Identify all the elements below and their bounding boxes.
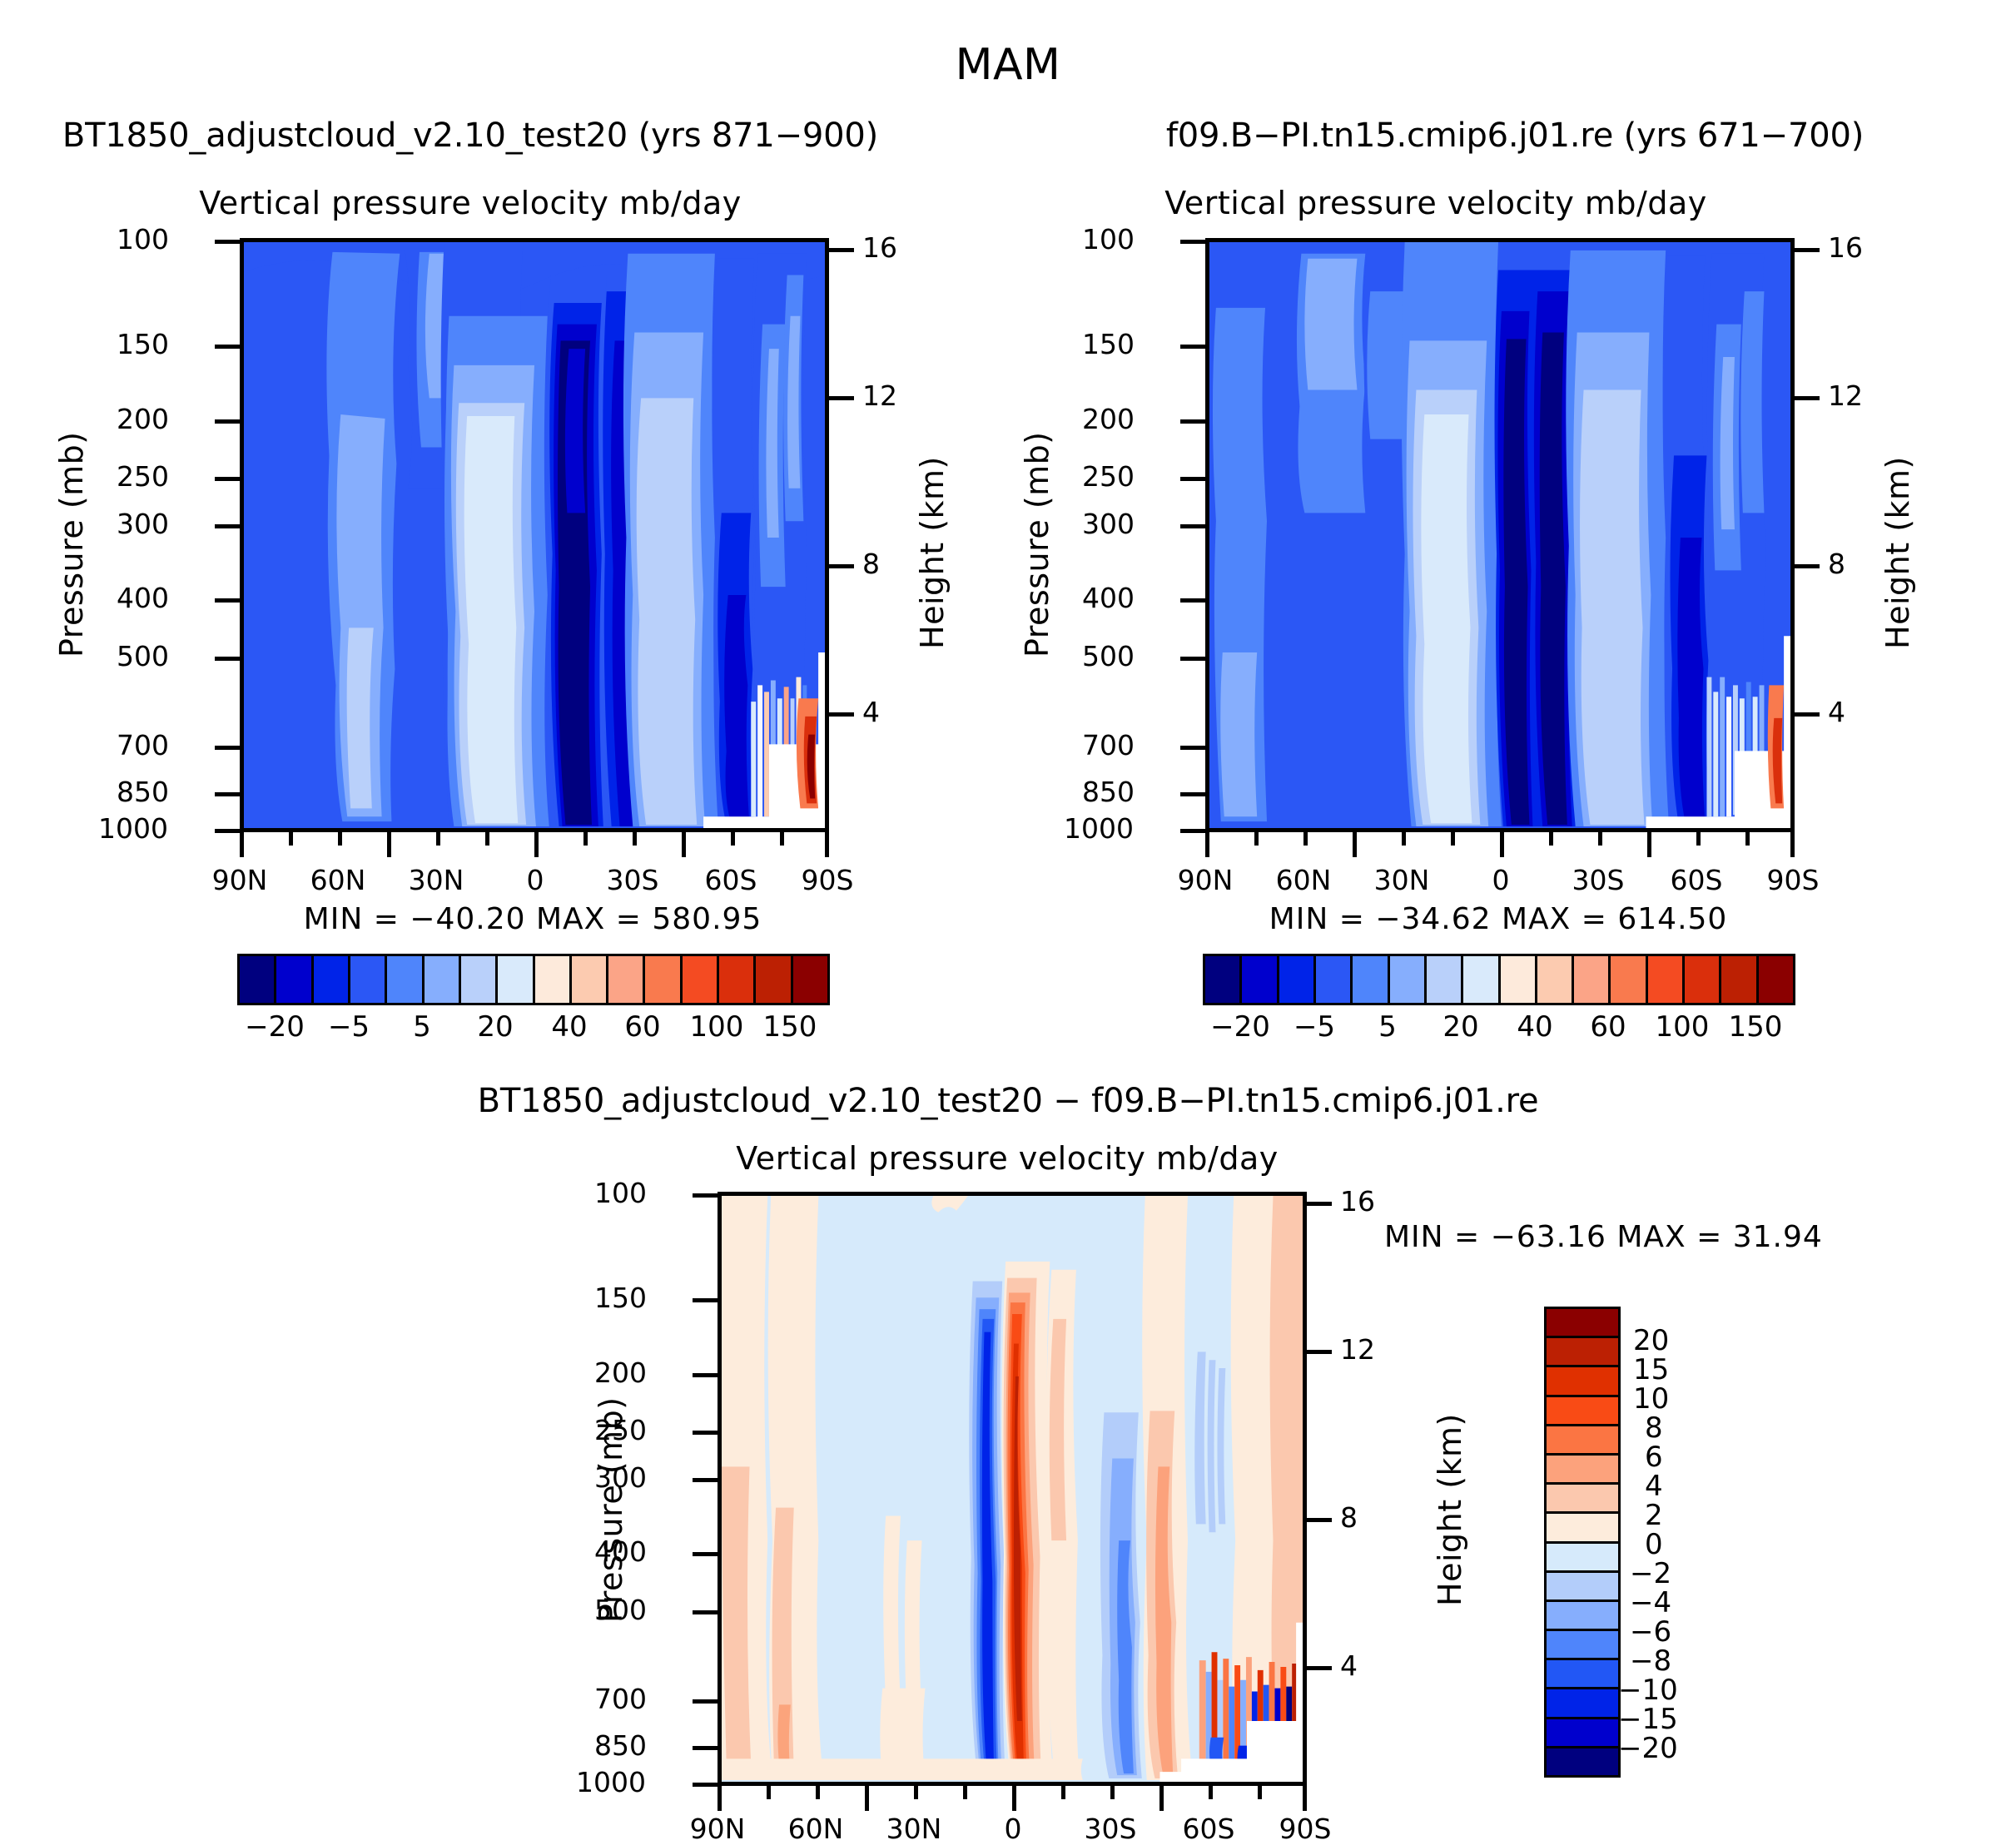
cbar-cell bbox=[1611, 956, 1647, 1003]
ytick-1000: 1000 bbox=[1064, 812, 1134, 845]
top-left-minmax: MIN = −40.20 MAX = 580.95 bbox=[200, 902, 866, 936]
ytick-500: 500 bbox=[594, 1594, 647, 1626]
ytick-150: 150 bbox=[594, 1282, 647, 1314]
top-right-panel-title: f09.B−PI.tn15.cmip6.j01.re (yrs 671−700) bbox=[1065, 117, 1964, 155]
cbar-tick: 8 bbox=[1645, 1411, 1663, 1445]
cbar-cell bbox=[350, 956, 387, 1003]
cbar-tick: −10 bbox=[1618, 1674, 1678, 1707]
ytick-400: 400 bbox=[594, 1535, 647, 1568]
ytick-150: 150 bbox=[117, 328, 169, 360]
top-right-plot-area[interactable] bbox=[1205, 238, 1795, 832]
cbar-cell bbox=[1685, 956, 1721, 1003]
y2tick-16: 16 bbox=[862, 231, 897, 264]
cbar-cell bbox=[1316, 956, 1353, 1003]
cbar-tick: 2 bbox=[1645, 1499, 1663, 1532]
cbar-cell bbox=[1547, 1573, 1618, 1602]
ytick-300: 300 bbox=[117, 508, 169, 540]
cbar-tick: −20 bbox=[1618, 1732, 1678, 1765]
xtick-30S: 30S bbox=[1060, 1813, 1160, 1845]
cbar-cell bbox=[1547, 1748, 1618, 1775]
xtick-0: 0 bbox=[1451, 864, 1551, 896]
cbar-cell bbox=[608, 956, 645, 1003]
xtick-90N: 90N bbox=[668, 1813, 767, 1845]
ytick-500: 500 bbox=[117, 640, 169, 672]
cbar-cell bbox=[1501, 956, 1537, 1003]
cbar-tick: −4 bbox=[1630, 1586, 1671, 1619]
cbar-cell bbox=[1547, 1660, 1618, 1689]
cbar-tick: 150 bbox=[1710, 1010, 1801, 1044]
y2tick-16: 16 bbox=[1340, 1185, 1375, 1218]
cbar-cell bbox=[1547, 1631, 1618, 1660]
xtick-0: 0 bbox=[485, 864, 585, 896]
cbar-cell bbox=[1547, 1367, 1618, 1396]
top-right-colorbar[interactable] bbox=[1203, 954, 1795, 1005]
xtick-90S: 90S bbox=[777, 864, 877, 896]
cbar-cell bbox=[1242, 956, 1279, 1003]
cbar-tick: −8 bbox=[1630, 1644, 1671, 1678]
xtick-60S: 60S bbox=[681, 864, 781, 896]
xtick-90N: 90N bbox=[190, 864, 290, 896]
cbar-cell bbox=[425, 956, 461, 1003]
top-right-minmax: MIN = −34.62 MAX = 614.50 bbox=[1165, 902, 1831, 936]
top-left-colorbar[interactable] bbox=[237, 954, 830, 1005]
cbar-cell bbox=[719, 956, 756, 1003]
xtick-60N: 60N bbox=[1254, 864, 1353, 896]
ytick-850: 850 bbox=[594, 1729, 647, 1762]
cbar-tick: 20 bbox=[1633, 1324, 1669, 1357]
y2tick-12: 12 bbox=[862, 379, 897, 412]
ytick-850: 850 bbox=[1082, 776, 1135, 808]
top-left-plot-area[interactable] bbox=[240, 238, 829, 832]
bottom-variable-title: Vertical pressure velocity mb/day bbox=[350, 1140, 1665, 1177]
ytick-850: 850 bbox=[117, 776, 169, 808]
cbar-cell bbox=[756, 956, 792, 1003]
bottom-colorbar[interactable] bbox=[1544, 1307, 1621, 1778]
cbar-cell bbox=[314, 956, 350, 1003]
xtick-30S: 30S bbox=[1548, 864, 1648, 896]
y2tick-8: 8 bbox=[1340, 1501, 1358, 1534]
ytick-250: 250 bbox=[1082, 460, 1135, 493]
ytick-400: 400 bbox=[117, 582, 169, 614]
ytick-100: 100 bbox=[594, 1177, 647, 1209]
ytick-200: 200 bbox=[117, 403, 169, 435]
ytick-200: 200 bbox=[1082, 403, 1135, 435]
cbar-tick: 6 bbox=[1645, 1441, 1663, 1474]
bottom-panel-title: BT1850_adjustcloud_v2.10_test20 − f09.B−… bbox=[259, 1082, 1757, 1120]
ytick-150: 150 bbox=[1082, 328, 1135, 360]
top-right-contour-canvas bbox=[1209, 242, 1790, 828]
bottom-minmax: MIN = −63.16 MAX = 31.94 bbox=[1384, 1220, 1823, 1254]
bottom-plot-area[interactable] bbox=[718, 1192, 1307, 1786]
cbar-tick: 15 bbox=[1633, 1353, 1669, 1386]
y2tick-12: 12 bbox=[1340, 1333, 1375, 1366]
ytick-300: 300 bbox=[1082, 508, 1135, 540]
cbar-cell bbox=[1547, 1338, 1618, 1367]
cbar-cell bbox=[1759, 956, 1793, 1003]
xtick-30N: 30N bbox=[386, 864, 486, 896]
top-left-contour-canvas bbox=[244, 242, 825, 828]
cbar-tick: 4 bbox=[1645, 1470, 1663, 1503]
bottom-y-axis-title: Pressure (mb) bbox=[593, 1273, 629, 1623]
y2tick-16: 16 bbox=[1828, 231, 1863, 264]
y2tick-4: 4 bbox=[1828, 696, 1845, 728]
cbar-cell bbox=[240, 956, 276, 1003]
ytick-200: 200 bbox=[594, 1356, 647, 1389]
y2tick-4: 4 bbox=[1340, 1649, 1358, 1682]
cbar-cell bbox=[1463, 956, 1500, 1003]
cbar-tick: 0 bbox=[1645, 1528, 1663, 1561]
cbar-cell bbox=[572, 956, 608, 1003]
top-left-variable-title: Vertical pressure velocity mb/day bbox=[108, 185, 832, 221]
cbar-cell bbox=[1547, 1309, 1618, 1338]
cbar-cell bbox=[1547, 1514, 1618, 1543]
cbar-cell bbox=[1547, 1602, 1618, 1631]
cbar-cell bbox=[1547, 1485, 1618, 1514]
ytick-1000: 1000 bbox=[576, 1766, 646, 1798]
cbar-cell bbox=[1648, 956, 1685, 1003]
cbar-cell bbox=[683, 956, 719, 1003]
cbar-cell bbox=[1205, 956, 1242, 1003]
xtick-30N: 30N bbox=[864, 1813, 964, 1845]
xtick-90S: 90S bbox=[1255, 1813, 1355, 1845]
cbar-tick: −6 bbox=[1630, 1615, 1671, 1649]
cbar-tick: −2 bbox=[1630, 1557, 1671, 1590]
top-left-y-axis-title: Pressure (mb) bbox=[53, 308, 90, 657]
ytick-1000: 1000 bbox=[98, 812, 168, 845]
xtick-60N: 60N bbox=[288, 864, 388, 896]
ytick-250: 250 bbox=[117, 460, 169, 493]
top-left-y2-axis-title: Height (km) bbox=[914, 316, 951, 649]
bottom-contour-canvas bbox=[722, 1196, 1303, 1782]
cbar-cell bbox=[1547, 1719, 1618, 1748]
xtick-90N: 90N bbox=[1155, 864, 1255, 896]
xtick-90S: 90S bbox=[1743, 864, 1843, 896]
top-right-variable-title: Vertical pressure velocity mb/day bbox=[1074, 185, 1798, 221]
ytick-400: 400 bbox=[1082, 582, 1135, 614]
xtick-30S: 30S bbox=[583, 864, 683, 896]
top-right-y-axis-title: Pressure (mb) bbox=[1019, 308, 1055, 657]
cbar-cell bbox=[1547, 1689, 1618, 1719]
bottom-y2-axis-title: Height (km) bbox=[1432, 1273, 1468, 1606]
cbar-cell bbox=[1574, 956, 1611, 1003]
xtick-60S: 60S bbox=[1646, 864, 1746, 896]
cbar-cell bbox=[461, 956, 498, 1003]
cbar-cell bbox=[1721, 956, 1758, 1003]
cbar-cell bbox=[1547, 1397, 1618, 1426]
cbar-cell bbox=[1547, 1544, 1618, 1573]
xtick-0: 0 bbox=[963, 1813, 1063, 1845]
ytick-700: 700 bbox=[117, 729, 169, 761]
y2tick-8: 8 bbox=[1828, 548, 1845, 580]
cbar-tick: −15 bbox=[1618, 1703, 1678, 1736]
ytick-300: 300 bbox=[594, 1461, 647, 1494]
top-left-panel-title: BT1850_adjustcloud_v2.10_test20 (yrs 871… bbox=[50, 117, 891, 155]
ytick-500: 500 bbox=[1082, 640, 1135, 672]
cbar-tick: 150 bbox=[744, 1010, 836, 1044]
cbar-cell bbox=[1427, 956, 1463, 1003]
cbar-cell bbox=[1353, 956, 1389, 1003]
ytick-100: 100 bbox=[117, 223, 169, 255]
ytick-100: 100 bbox=[1082, 223, 1135, 255]
y2tick-4: 4 bbox=[862, 696, 880, 728]
figure-season-title: MAM bbox=[0, 40, 2016, 90]
xtick-60N: 60N bbox=[766, 1813, 866, 1845]
ytick-700: 700 bbox=[594, 1683, 647, 1715]
cbar-cell bbox=[793, 956, 827, 1003]
cbar-cell bbox=[387, 956, 424, 1003]
cbar-cell bbox=[1279, 956, 1316, 1003]
cbar-cell bbox=[645, 956, 682, 1003]
cbar-cell bbox=[1537, 956, 1574, 1003]
ytick-250: 250 bbox=[594, 1414, 647, 1446]
cbar-cell bbox=[498, 956, 534, 1003]
ytick-700: 700 bbox=[1082, 729, 1135, 761]
xtick-30N: 30N bbox=[1352, 864, 1452, 896]
cbar-cell bbox=[535, 956, 572, 1003]
xtick-60S: 60S bbox=[1159, 1813, 1259, 1845]
top-right-y2-axis-title: Height (km) bbox=[1879, 316, 1916, 649]
cbar-cell bbox=[276, 956, 313, 1003]
cbar-cell bbox=[1390, 956, 1427, 1003]
cbar-cell bbox=[1547, 1456, 1618, 1485]
cbar-cell bbox=[1547, 1426, 1618, 1456]
y2tick-8: 8 bbox=[862, 548, 880, 580]
y2tick-12: 12 bbox=[1828, 379, 1863, 412]
cbar-tick: 10 bbox=[1633, 1382, 1669, 1416]
